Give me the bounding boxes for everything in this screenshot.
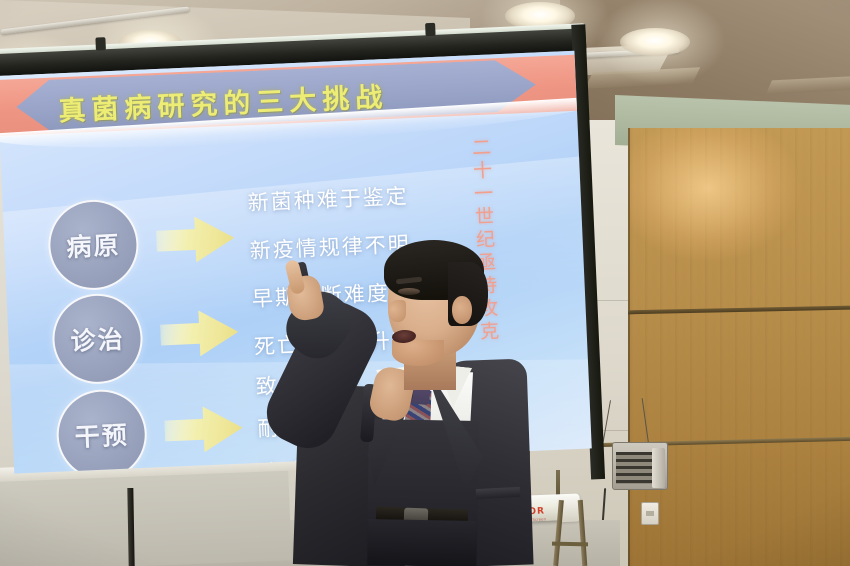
speaker-trousers bbox=[368, 519, 477, 566]
tripod-crossbar bbox=[552, 542, 588, 547]
power-outlet[interactable] bbox=[641, 502, 659, 525]
category-label: 诊治 bbox=[70, 320, 126, 358]
vertical-note-char: 二 bbox=[466, 136, 497, 160]
category-label: 干预 bbox=[74, 416, 130, 454]
speaker-chin bbox=[392, 340, 444, 366]
vertical-note-char: 纪 bbox=[470, 228, 501, 252]
screen-clamp bbox=[95, 37, 106, 50]
speaker-eye bbox=[398, 288, 420, 295]
vertical-note-char: 十 bbox=[467, 159, 498, 183]
vertical-note-char: 世 bbox=[469, 205, 500, 229]
speaker-ear bbox=[452, 296, 472, 324]
ceiling-downlight bbox=[620, 28, 690, 56]
vertical-note-char: 克 bbox=[474, 320, 505, 344]
wood-wall-panel bbox=[628, 128, 850, 566]
category-label: 病原 bbox=[66, 226, 122, 264]
speaker-nose bbox=[388, 300, 406, 322]
vertical-note-char: 一 bbox=[468, 182, 499, 206]
screen-clamp bbox=[425, 23, 436, 36]
heater-grill bbox=[616, 452, 652, 484]
lecture-photo-scene: 真菌病研究的三大挑战 病原 诊治 干预 新菌种难于鉴定 新疫情规律不明 早期诊断… bbox=[0, 0, 850, 566]
heater-side-panel bbox=[652, 448, 665, 488]
